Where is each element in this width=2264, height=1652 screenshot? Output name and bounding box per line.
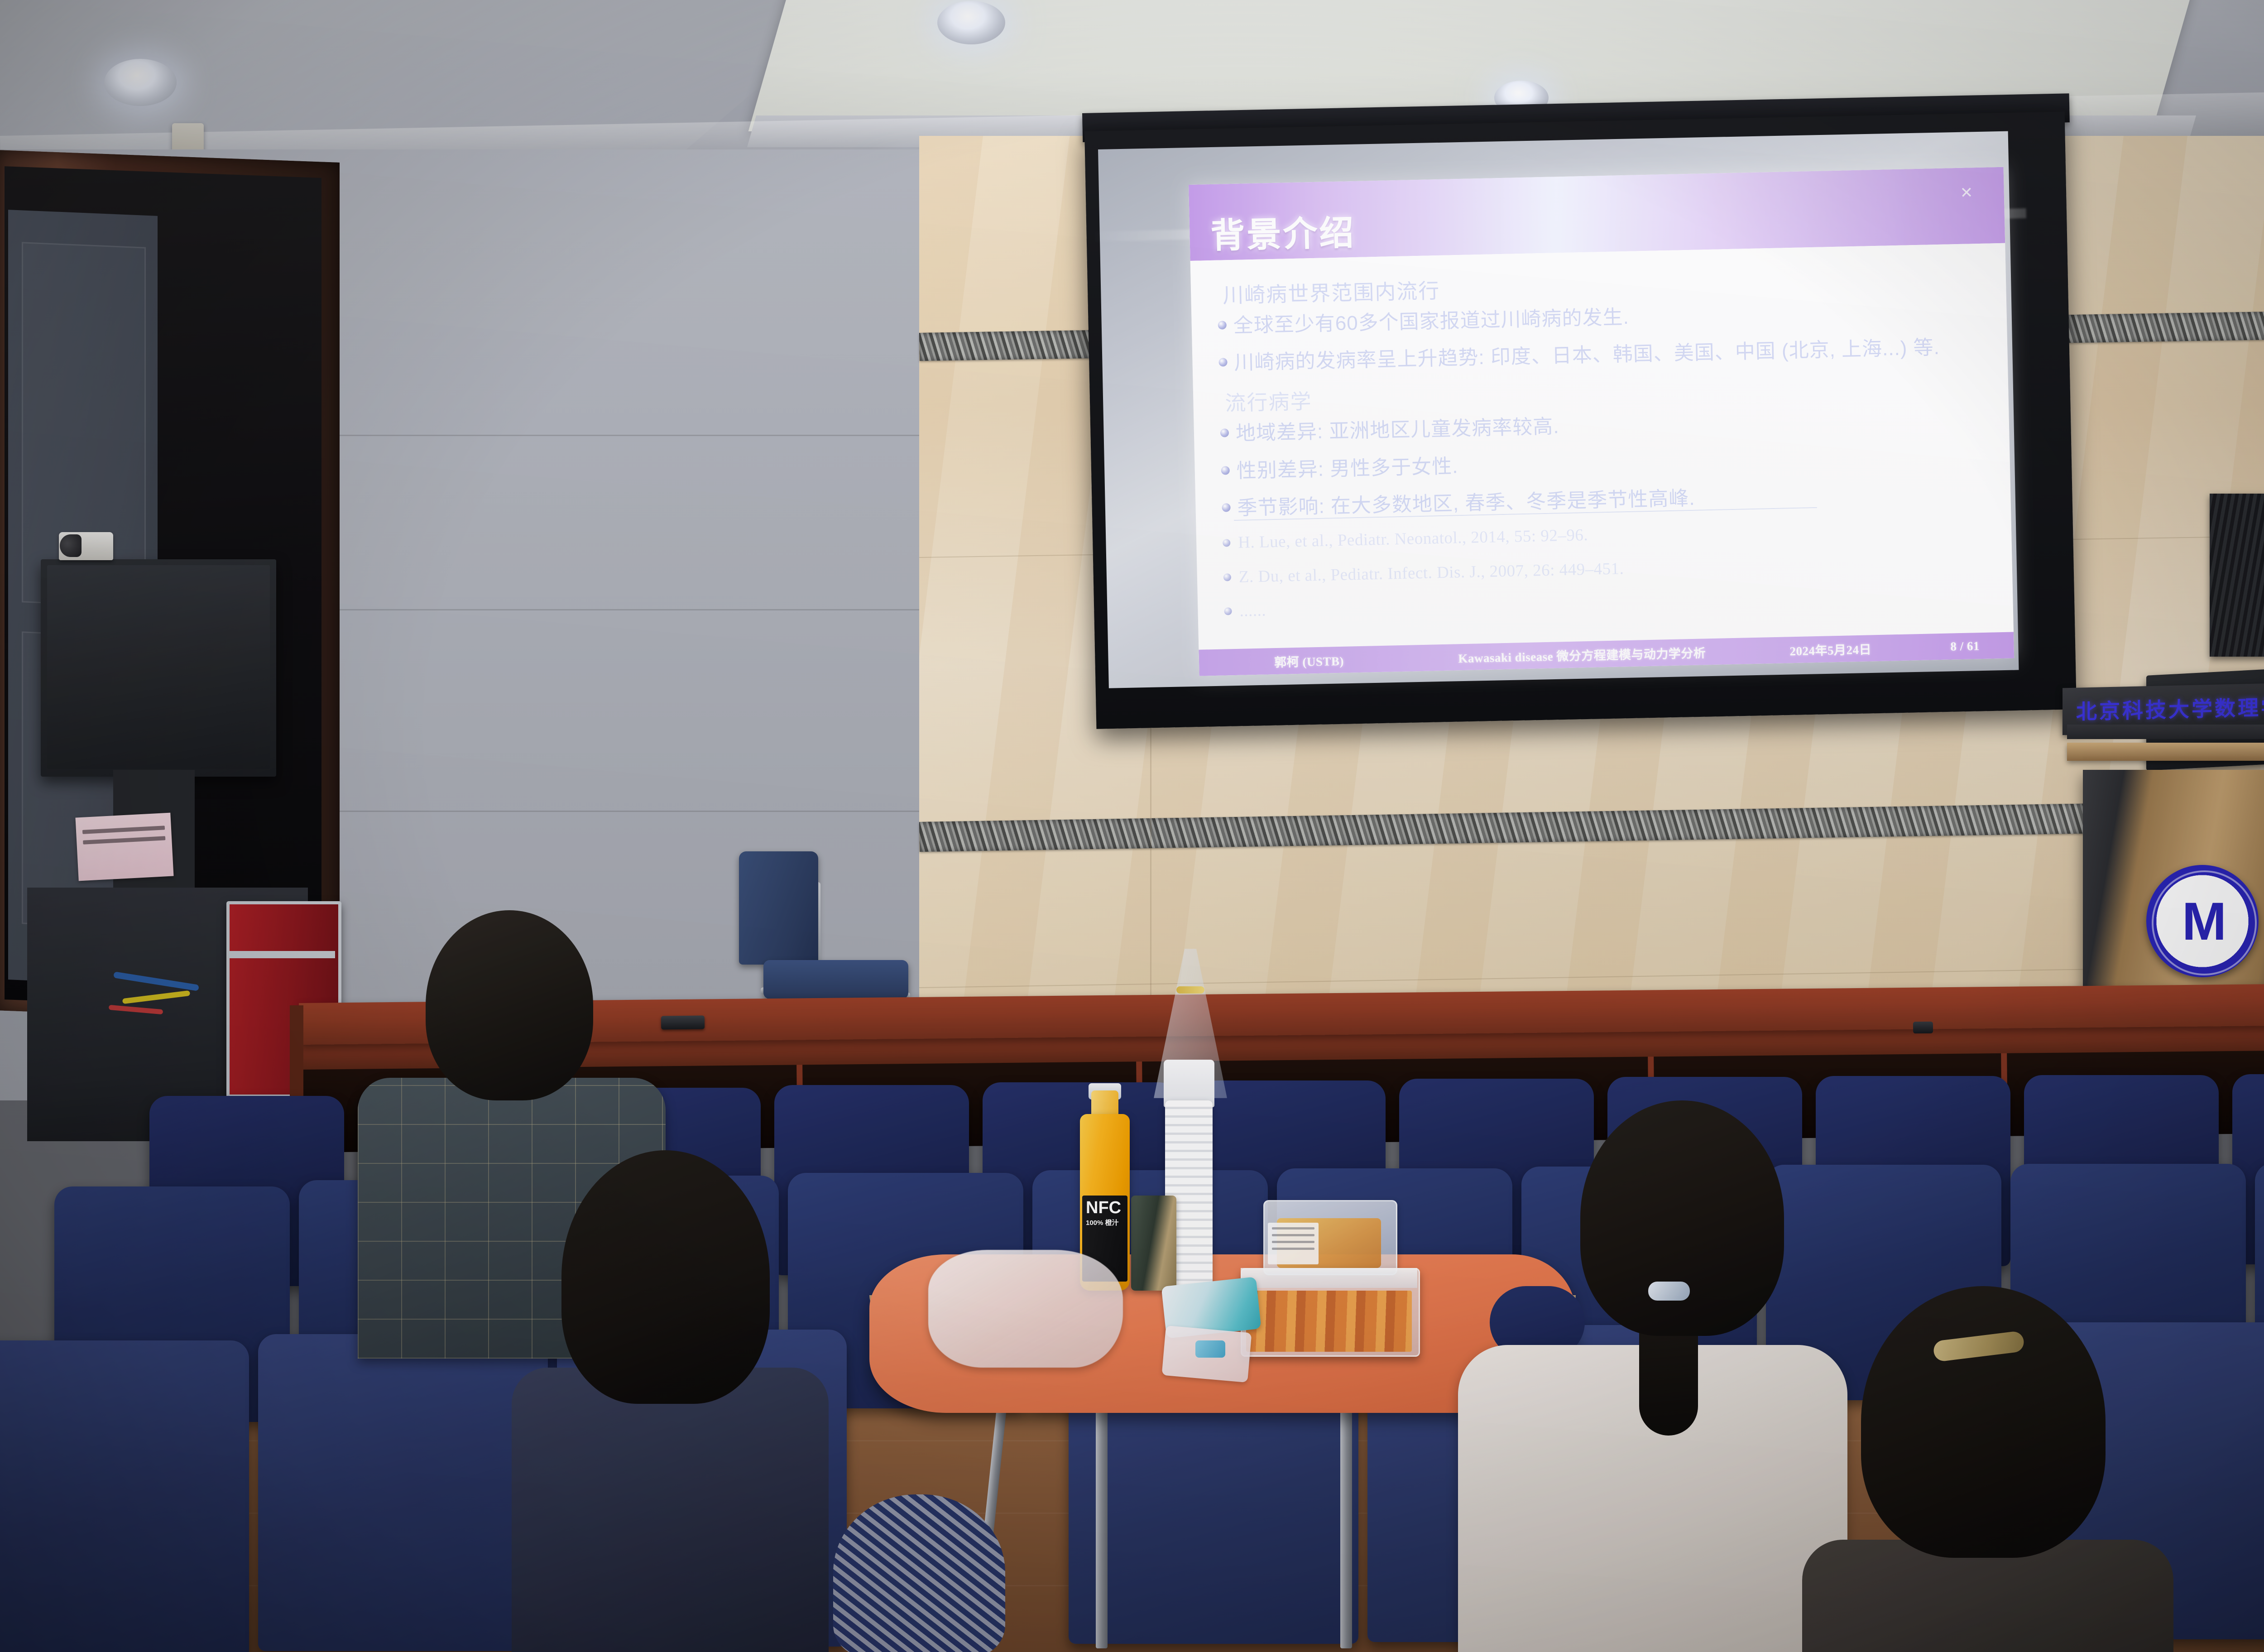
podium-shelf bbox=[2067, 743, 2264, 761]
auditorium-seat[interactable] bbox=[0, 1340, 249, 1652]
slide-title: 背景介绍 bbox=[1210, 205, 1356, 258]
slide-bullet: 季节影响: 在大多数地区, 春季、冬季是季节性高峰. bbox=[1237, 478, 1985, 523]
projector-osd-close-icon: ✕ bbox=[1957, 183, 1976, 203]
podium-shelf-upper bbox=[2067, 725, 2264, 739]
wall-display-screen bbox=[47, 565, 270, 769]
slide-footer-author: 郭柯 (USTB) bbox=[1199, 649, 1420, 672]
audience-member-head bbox=[833, 1494, 1005, 1652]
label-line bbox=[1272, 1227, 1314, 1229]
slide-citation: ...... bbox=[1239, 591, 1625, 622]
laser-pointer[interactable] bbox=[1913, 1022, 1933, 1033]
juice-sublabel: 100% 橙汁 bbox=[1086, 1220, 1127, 1226]
audience-member-torso bbox=[512, 1368, 829, 1652]
projected-slide: 背景介绍 川崎病世界范围内流行 全球至少有60多个国家报道过川崎病的发生. 川崎… bbox=[1189, 167, 2014, 676]
audience-member-head bbox=[1861, 1286, 2106, 1558]
slide-bullet: 性别差异: 男性多于女性. bbox=[1236, 441, 1984, 486]
cable bbox=[113, 971, 199, 991]
cable bbox=[122, 990, 190, 1004]
slide-citation: Z. Du, et al., Pediatr. Infect. Dis. J.,… bbox=[1238, 557, 1624, 588]
slide-bullet-list-1: 全球至少有60多个国家报道过川崎病的发生. 川崎病的发病率呈上升趋势: 印度、日… bbox=[1218, 295, 1981, 378]
flight-case-band bbox=[226, 951, 335, 958]
camera-lens-icon bbox=[60, 534, 82, 557]
audience-member-head bbox=[426, 910, 593, 1100]
downlight-icon bbox=[937, 1, 1005, 44]
podium-nameplate-text: 北京科技大学数理学院 bbox=[2076, 689, 2264, 729]
cable-bundle bbox=[109, 969, 258, 1023]
slide-bullet-list-2: 地域差异: 亚洲地区儿童发病率较高. 性别差异: 男性多于女性. 季节影响: 在… bbox=[1220, 403, 1985, 523]
label-line bbox=[1272, 1248, 1314, 1250]
audience-member-head bbox=[561, 1150, 770, 1404]
auditorium-seat[interactable] bbox=[258, 1334, 548, 1651]
coffee-can[interactable] bbox=[1131, 1196, 1176, 1291]
downlight-icon bbox=[104, 59, 177, 106]
speaker bbox=[2210, 494, 2264, 657]
hair-tie-icon bbox=[1648, 1282, 1690, 1301]
snack-packet-label bbox=[1195, 1340, 1225, 1358]
fruit-contents bbox=[1246, 1291, 1412, 1352]
label-line bbox=[1272, 1241, 1314, 1243]
stage-chair-seat bbox=[763, 960, 908, 999]
cable bbox=[109, 1005, 163, 1014]
fruit-container-lid bbox=[1241, 1268, 1417, 1288]
stage-chair-back bbox=[739, 851, 818, 965]
lecture-hall-photo: 背景介绍 川崎病世界范围内流行 全球至少有60多个国家报道过川崎病的发生. 川崎… bbox=[0, 0, 2264, 1652]
slide-footer-page-number: 8 / 61 bbox=[1916, 638, 2014, 654]
cup-wrapper-tie bbox=[1176, 986, 1204, 994]
slide-footer-talk-title: Kawasaki disease 微分方程建模与动力学分析 bbox=[1419, 642, 1745, 667]
slide-bullet: 川崎病的发病率呈上升趋势: 印度、日本、韩国、美国、中国 (北京, 上海...)… bbox=[1234, 332, 1981, 378]
table-leg bbox=[1096, 1395, 1108, 1648]
food-price-label bbox=[1268, 1223, 1319, 1264]
slide-citation-list: H. Lue, et al., Pediatr. Neonatol., 2014… bbox=[1223, 523, 1625, 634]
note-line bbox=[83, 836, 165, 845]
plastic-bag[interactable] bbox=[928, 1250, 1123, 1368]
remote-control[interactable] bbox=[661, 1015, 705, 1029]
note-line bbox=[82, 826, 165, 834]
juice-brand: NFC bbox=[1086, 1198, 1121, 1217]
ip-address-note bbox=[75, 813, 173, 881]
label-line bbox=[1272, 1234, 1314, 1236]
school-logo-letter: M bbox=[2169, 892, 2237, 951]
table-leg bbox=[1340, 1395, 1352, 1648]
slide-footer-date: 2024年5月24日 bbox=[1745, 639, 1916, 660]
audience-member-head bbox=[1580, 1100, 1784, 1336]
